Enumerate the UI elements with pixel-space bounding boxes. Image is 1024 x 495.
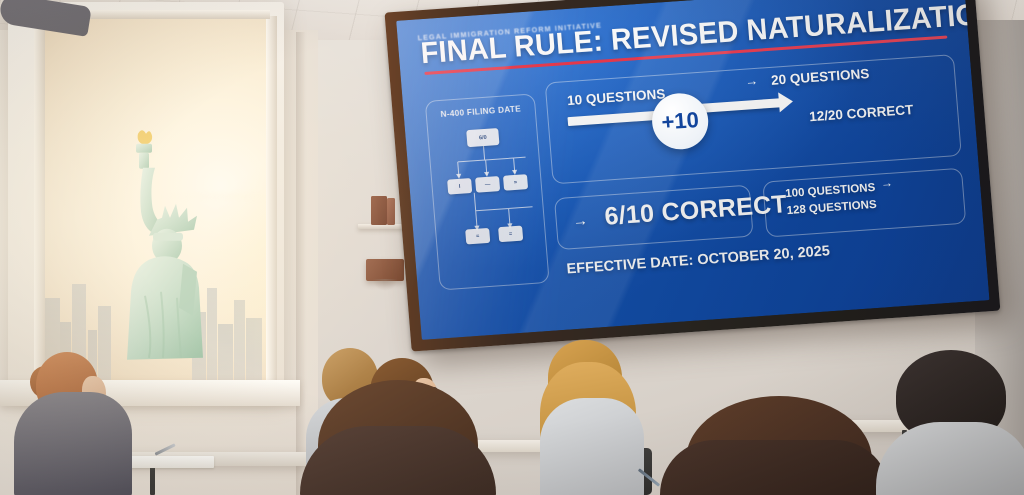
thin-arrow-20-questions: → [745,73,759,89]
notepaper [128,456,214,468]
display-bezel: FINAL RULE: REVISED NATURALIZATION TEST … [385,0,1001,352]
flowchart-panel: N-400 FILING DATE 6/0 [425,93,550,290]
shelf-binder-large [371,196,387,225]
display-screen[interactable]: FINAL RULE: REVISED NATURALIZATION TEST … [396,0,989,340]
wall-box-shadow [372,279,398,291]
flow-node-leaf-2: = [498,226,523,243]
student-5-torso [540,398,644,495]
flow-node-root: 6/0 [466,128,499,147]
flow-node-child-3: = [503,174,528,191]
student-6-torso [660,440,890,495]
label-effective-date: EFFECTIVE DATE: OCTOBER 20, 2025 [566,243,830,277]
wall-corner [296,32,306,495]
flow-node-leaf-1: = [465,228,490,245]
desk-leg [150,464,155,495]
window-frame [8,2,284,397]
presentation-slide: FINAL RULE: REVISED NATURALIZATION TEST … [396,0,989,340]
student-1-torso [14,392,132,495]
window-glass [42,16,270,384]
thin-arrow-question-bank: → [880,176,893,191]
wall-display[interactable]: FINAL RULE: REVISED NATURALIZATION TEST … [385,0,1001,352]
lens-flare-streak [162,194,270,199]
window-mullion-left [34,16,45,384]
flow-node-child-1: I [447,178,472,195]
arrow-6-of-10: → [572,212,588,230]
flow-node-child-2: — [475,176,500,193]
shelf-binder-small [387,198,395,225]
student-1 [0,0,90,30]
statue-of-liberty [105,128,217,363]
window-mullion-right [266,16,277,384]
wall-mounted-box [366,259,404,281]
classroom-scene: FINAL RULE: REVISED NATURALIZATION TEST … [0,0,1024,495]
flowchart-connectors [426,94,551,291]
